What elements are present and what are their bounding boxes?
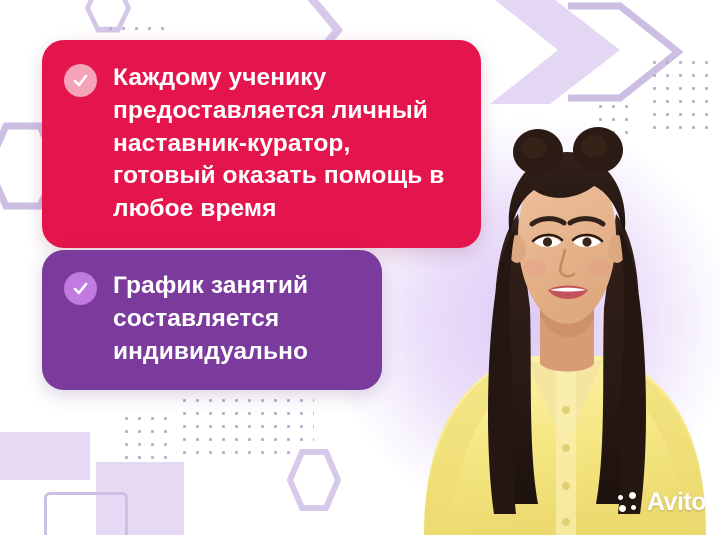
info-card-mentor: Каждому ученику предоставляется личный н… (42, 40, 481, 248)
check-icon (64, 272, 97, 305)
rect-filled-bottom-left (0, 432, 90, 480)
avito-watermark: Avito (618, 488, 706, 517)
image-canvas: Каждому ученику предоставляется личный н… (0, 0, 720, 535)
avito-dots-icon (618, 492, 640, 514)
info-card-schedule-text: График занятий составляется индивидуальн… (113, 270, 356, 368)
dot-grid-left-bottom (120, 412, 172, 468)
check-icon (64, 64, 97, 97)
hexagon-outline-bottom-center (286, 448, 342, 512)
rect-outline-bottom-left (44, 492, 128, 535)
info-card-schedule: График занятий составляется индивидуальн… (42, 250, 382, 390)
avito-wordmark: Avito (647, 488, 706, 517)
info-card-mentor-text: Каждому ученику предоставляется личный н… (113, 62, 455, 226)
